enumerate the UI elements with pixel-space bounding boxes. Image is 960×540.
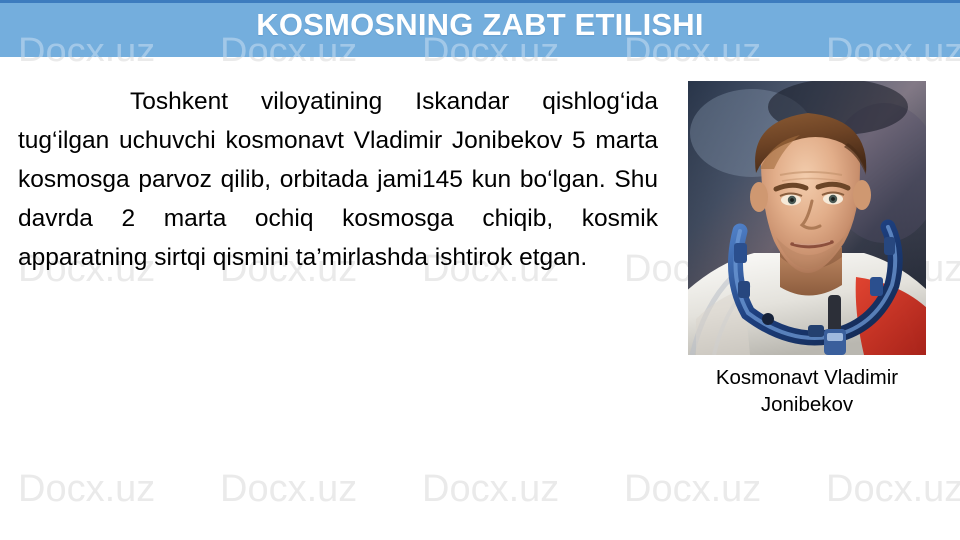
watermark-text: Docx.uz bbox=[826, 468, 960, 511]
title-banner: Docx.uzDocx.uzDocx.uzDocx.uzDocx.uz KOSM… bbox=[0, 0, 960, 57]
page-title: KOSMOSNING ZABT ETILISHI bbox=[0, 7, 960, 43]
photo-caption: Kosmonavt Vladimir Jonibekov bbox=[668, 364, 946, 418]
cosmonaut-photo bbox=[688, 81, 926, 355]
slide-canvas: Docx.uzDocx.uzDocx.uzDocx.uzDocx.uzDocx.… bbox=[0, 0, 960, 540]
body-paragraph: Toshkent viloyatining Iskandar qishlog‘i… bbox=[18, 82, 658, 277]
watermark-text: Docx.uz bbox=[18, 468, 155, 511]
watermark-text: Docx.uz bbox=[422, 468, 559, 511]
watermark-text: Docx.uz bbox=[220, 468, 357, 511]
watermark-text: Docx.uz bbox=[624, 468, 761, 511]
cosmonaut-portrait-image bbox=[688, 81, 926, 355]
body-paragraph-text: Toshkent viloyatining Iskandar qishlog‘i… bbox=[18, 82, 658, 277]
